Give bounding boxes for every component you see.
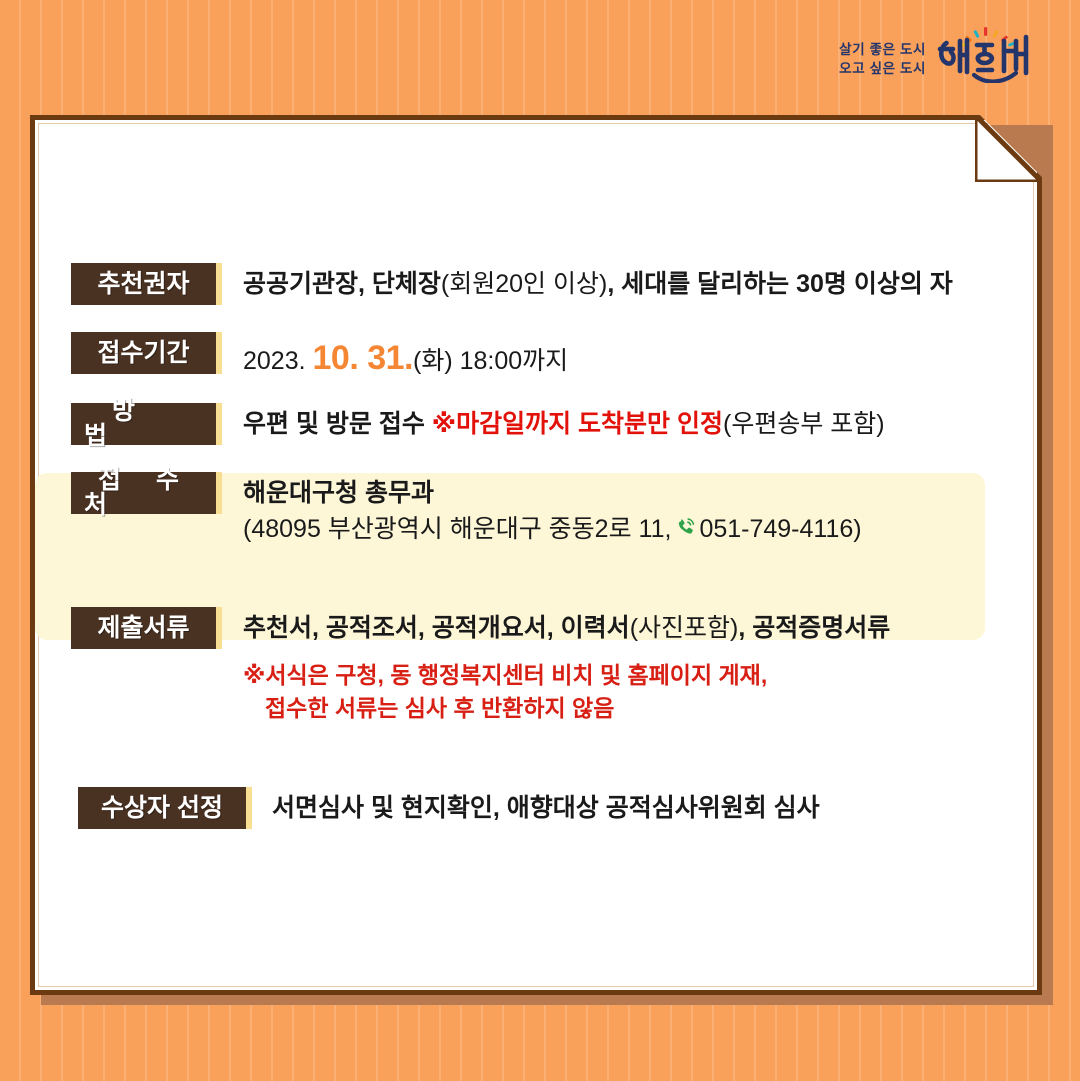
- label-documents: 제출서류: [71, 607, 216, 649]
- value-method: 우편 및 방문 접수 ※마감일까지 도착분만 인정(우편송부 포함): [243, 403, 885, 443]
- row-method: 방 법 우편 및 방문 접수 ※마감일까지 도착분만 인정(우편송부 포함): [71, 403, 885, 445]
- row-reception: 접 수 처 해운대구청 총무과 (48095 부산광역시 해운대구 중동2로 1…: [71, 472, 862, 547]
- value-period: 2023. 10. 31.(화) 18:00까지: [243, 332, 568, 382]
- documents-part3: , 공적증명서류: [738, 614, 890, 642]
- logo-slogan-line2: 오고 싶은 도시: [839, 59, 926, 78]
- period-date: 10. 31.: [313, 339, 413, 377]
- card-content: 추천권자 공공기관장, 단체장(회원20인 이상), 세대를 달리하는 30명 …: [30, 115, 1042, 995]
- row-recommender: 추천권자 공공기관장, 단체장(회원20인 이상), 세대를 달리하는 30명 …: [71, 263, 953, 305]
- phone-call-icon: [674, 516, 698, 540]
- row-period: 접수기간 2023. 10. 31.(화) 18:00까지: [71, 332, 568, 382]
- recommender-part1: 공공기관장, 단체장: [243, 270, 441, 298]
- documents-note: ※서식은 구청, 동 행정복지센터 비치 및 홈페이지 게재, 접수한 서류는 …: [243, 659, 890, 726]
- label-reception: 접 수 처: [71, 472, 216, 514]
- label-period: 접수기간: [71, 332, 216, 374]
- value-selection: 서면심사 및 현지확인, 애향대상 공적심사위원회 심사: [272, 787, 820, 827]
- row-documents: 제출서류 추천서, 공적조서, 공적개요서, 이력서(사진포함), 공적증명서류…: [71, 607, 890, 725]
- recommender-part2: (회원20인 이상): [441, 270, 607, 298]
- method-part3: (우편송부 포함): [723, 410, 885, 438]
- documents-note-line2: 접수한 서류는 심사 후 반환하지 않음: [243, 692, 890, 725]
- reception-address: (48095 부산광역시 해운대구 중동2로 11,051-749-4116): [243, 512, 862, 548]
- haeundae-wordmark: [934, 27, 1046, 83]
- period-year: 2023.: [243, 347, 313, 375]
- label-selection: 수상자 선정: [78, 787, 246, 829]
- logo-slogan: 살기 좋은 도시 오고 싶은 도시: [839, 40, 926, 83]
- method-part1: 우편 및 방문 접수: [243, 410, 432, 438]
- value-documents: 추천서, 공적조서, 공적개요서, 이력서(사진포함), 공적증명서류 ※서식은…: [243, 607, 890, 725]
- documents-part2: (사진포함): [630, 614, 739, 642]
- method-warning: ※마감일까지 도착분만 인정: [432, 410, 723, 438]
- documents-part1: 추천서, 공적조서, 공적개요서, 이력서: [243, 614, 630, 642]
- recommender-part3: , 세대를 달리하는 30명 이상의 자: [607, 270, 952, 298]
- value-recommender: 공공기관장, 단체장(회원20인 이상), 세대를 달리하는 30명 이상의 자: [243, 263, 953, 303]
- reception-address-close: ): [853, 515, 861, 543]
- reception-office: 해운대구청 총무과: [243, 476, 862, 512]
- documents-note-line1: ※서식은 구청, 동 행정복지센터 비치 및 홈페이지 게재,: [243, 659, 890, 692]
- reception-phone: 051-749-4116: [699, 515, 853, 543]
- logo-smile: [974, 73, 1016, 82]
- label-method: 방 법: [71, 403, 216, 445]
- row-selection: 수상자 선정 서면심사 및 현지확인, 애향대상 공적심사위원회 심사: [78, 787, 820, 829]
- reception-address-text: (48095 부산광역시 해운대구 중동2로 11,: [243, 515, 671, 543]
- label-recommender: 추천권자: [71, 263, 216, 305]
- haeundae-logo: 살기 좋은 도시 오고 싶은 도시: [839, 27, 1046, 83]
- period-rest: (화) 18:00까지: [413, 347, 568, 375]
- value-reception: 해운대구청 총무과 (48095 부산광역시 해운대구 중동2로 11,051-…: [243, 472, 862, 547]
- logo-slogan-line1: 살기 좋은 도시: [839, 40, 926, 59]
